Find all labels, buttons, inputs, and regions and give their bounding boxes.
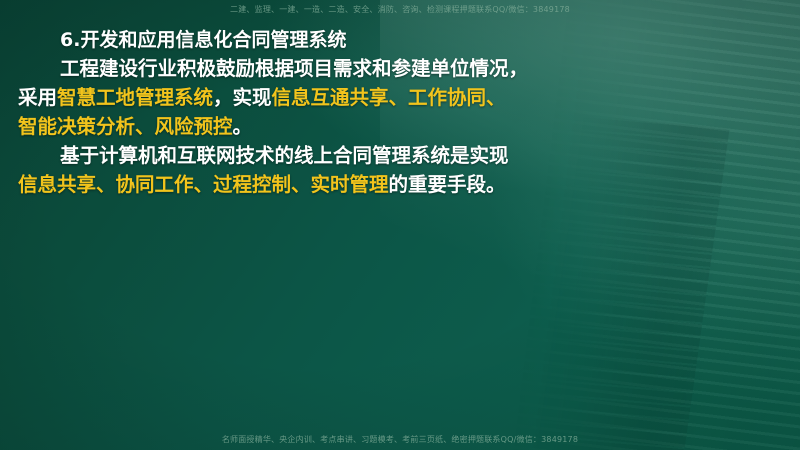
paragraph2-line2: 信息共享、协同工作、过程控制、实时管理的重要手段。 bbox=[18, 170, 596, 199]
paragraph1-line2-text-a: 采用 bbox=[18, 86, 57, 109]
paragraph1-line3: 智能决策分析、风险预控。 bbox=[18, 112, 596, 141]
paragraph2-line2-text-b: 的重要手段。 bbox=[389, 173, 506, 196]
paragraph1-line2-highlight-b: 智慧工地管理系统 bbox=[57, 86, 213, 109]
paragraph2-line2-highlight-a: 信息共享、协同工作、过程控制、实时管理 bbox=[18, 173, 389, 196]
slide-content: 6.开发和应用信息化合同管理系统 工程建设行业积极鼓励根据项目需求和参建单位情况… bbox=[0, 26, 596, 199]
paragraph1-line2-text-c: ，实现 bbox=[213, 86, 272, 109]
paragraph1-line3-highlight-a: 智能决策分析、风险预控 bbox=[18, 115, 233, 138]
paragraph1-line1: 工程建设行业积极鼓励根据项目需求和参建单位情况， bbox=[18, 54, 596, 83]
slide-title: 6.开发和应用信息化合同管理系统 bbox=[18, 26, 596, 54]
paragraph1-line3-text-b: 。 bbox=[233, 115, 253, 138]
paragraph1-line2: 采用智慧工地管理系统，实现信息互通共享、工作协同、 bbox=[18, 83, 596, 112]
watermark-top: 二建、监理、一建、一造、二造、安全、消防、咨询、检测课程押题联系QQ/微信：38… bbox=[0, 4, 800, 15]
paragraph2-line1: 基于计算机和互联网技术的线上合同管理系统是实现 bbox=[18, 141, 596, 170]
paragraph1-line2-highlight-d: 信息互通共享、工作协同、 bbox=[272, 86, 506, 109]
presentation-slide: 二建、监理、一建、一造、二造、安全、消防、咨询、检测课程押题联系QQ/微信：38… bbox=[0, 0, 800, 450]
watermark-bottom: 名师面授精华、央企内训、考点串讲、习题模考、考前三页纸、绝密押题联系QQ/微信：… bbox=[0, 434, 800, 445]
